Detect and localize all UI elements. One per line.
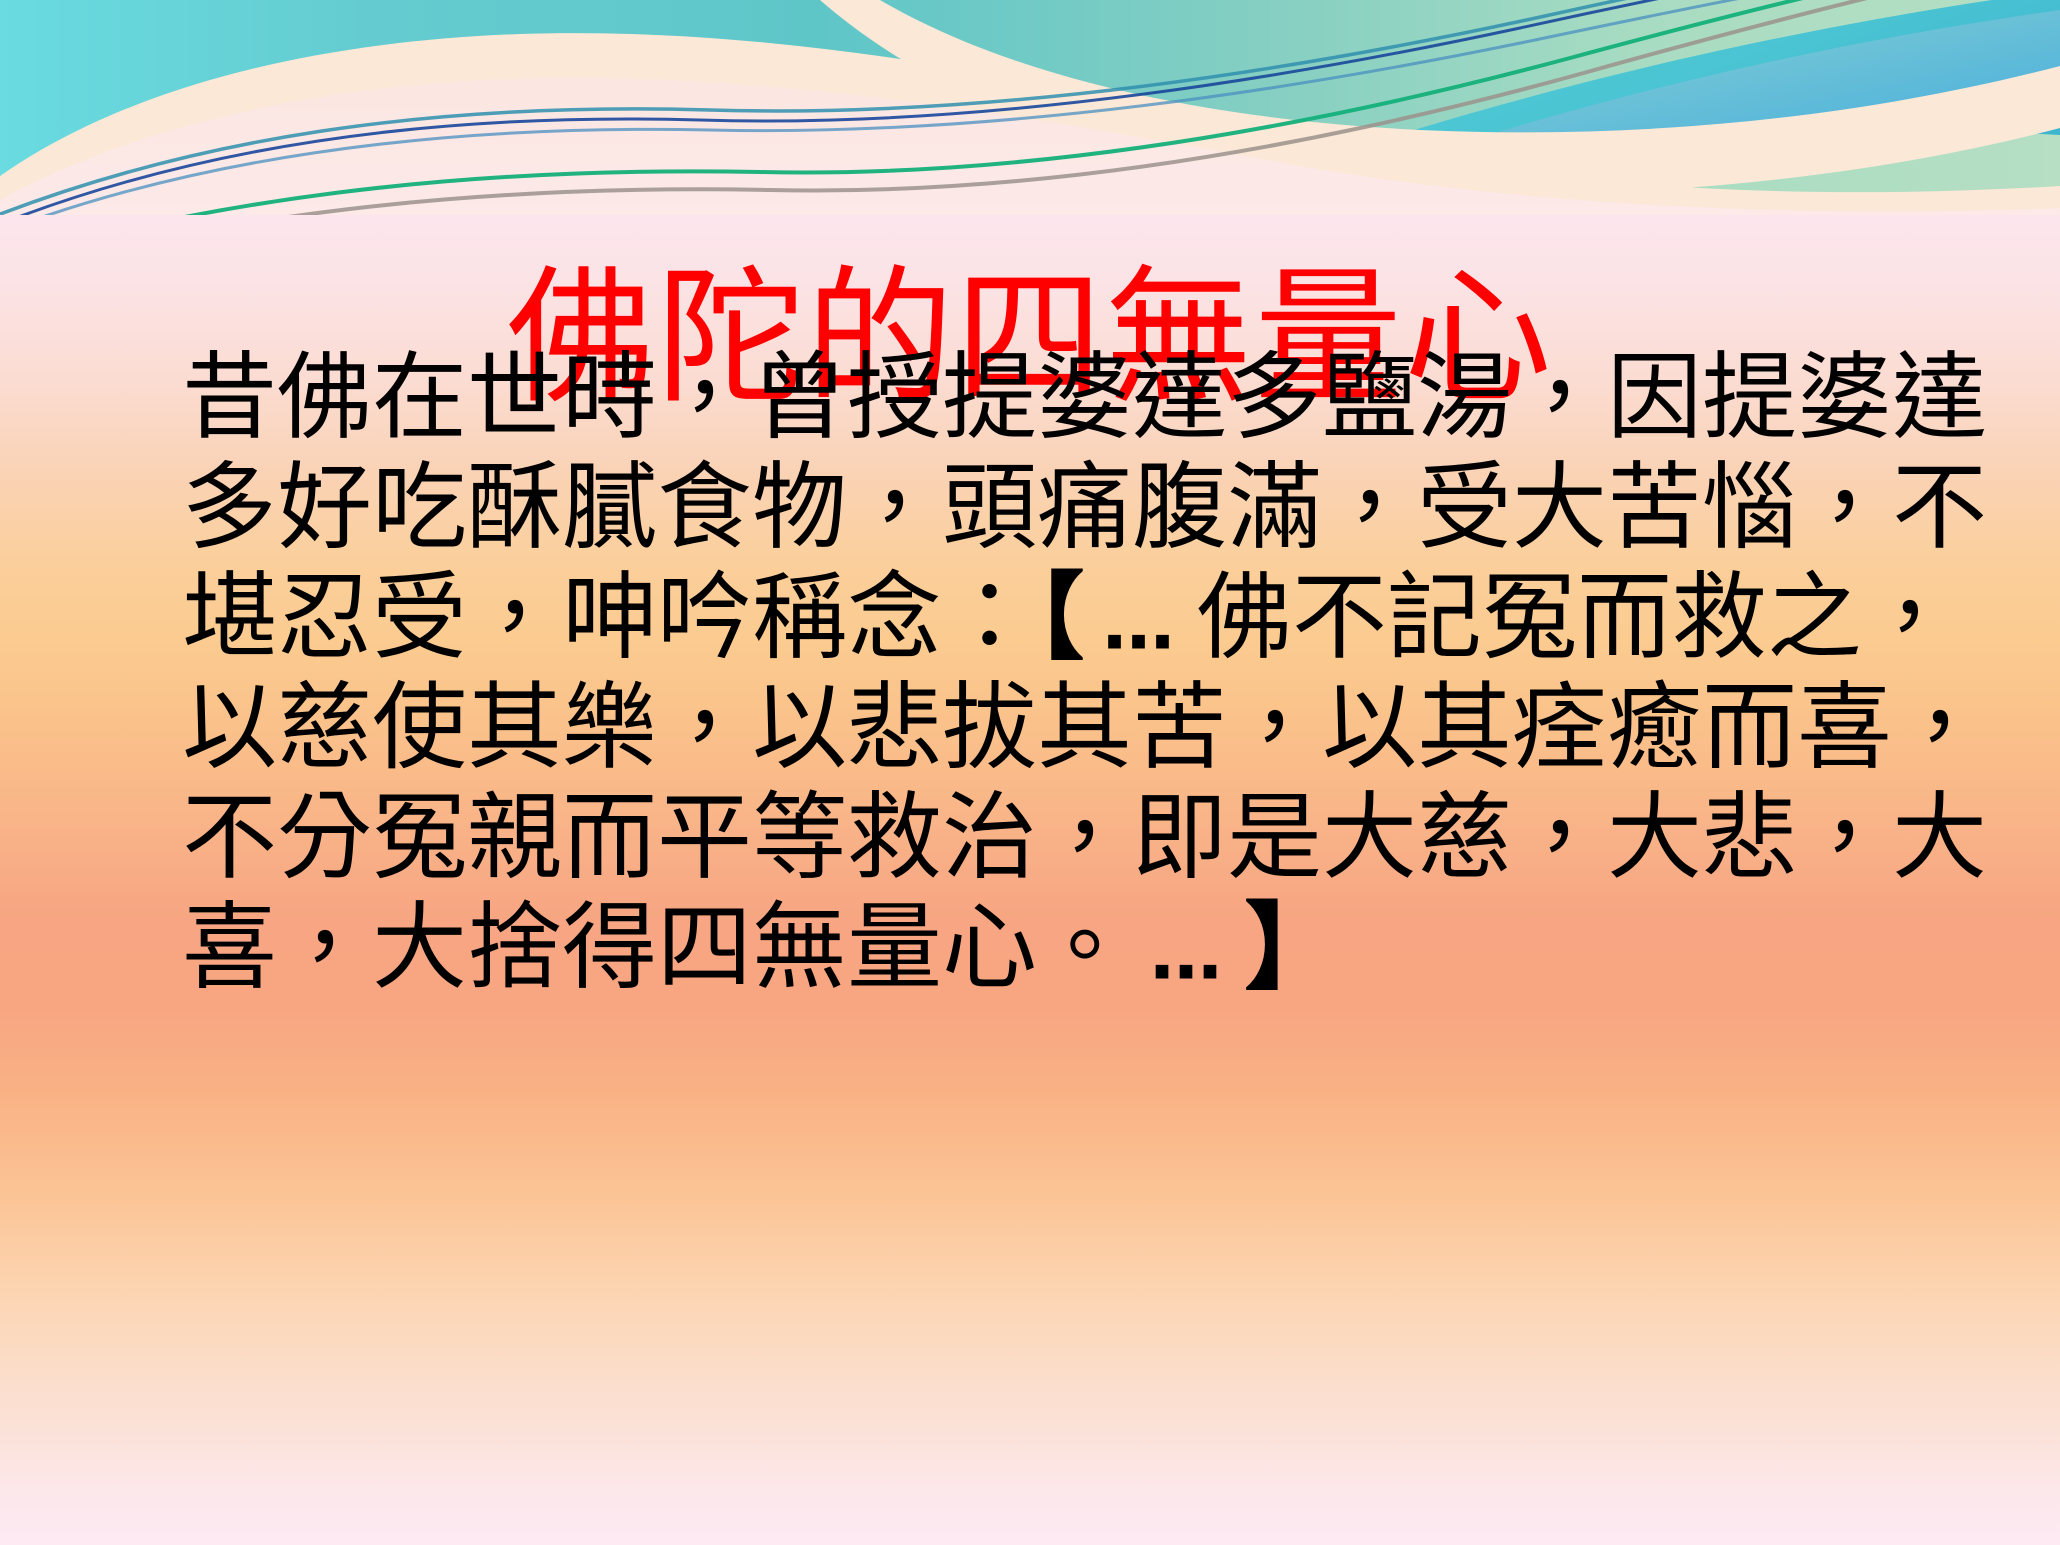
line-green [0,0,2060,215]
line-navy [0,0,2060,215]
ellipsis-open: … [1103,582,1179,666]
body-line-6: 喜，大捨得四無量心。…】 [182,893,1942,1003]
slide-canvas: 佛陀的四無量心 昔佛在世時，曾授提婆達多鹽湯，因提婆達 多好吃酥膩食物，頭痛腹滿… [0,0,2060,1545]
body-line-3: 堪忍受，呻吟稱念：【…佛不記冤而救之， [182,563,1942,673]
body-line-3-text-a: 堪忍受，呻吟稱念： [182,563,1037,673]
pink-wave-main [0,78,2060,215]
blue-blob-right [1250,10,2060,215]
header-decoration [0,0,2060,215]
open-bracket: 【 [1037,563,1085,673]
ellipsis-close: … [1150,912,1226,996]
header-wave-graphic [0,0,2060,215]
teal-band [0,0,2060,215]
line-steel-blue [0,0,2060,215]
body-line-5: 不分冤親而平等救治，即是大慈，大悲，大 [182,783,1942,893]
cream-sweep-upper [820,0,2060,195]
body-line-3-text-b: 佛不記冤而救之， [1197,563,1957,673]
line-gray [0,0,2060,215]
cream-wave-main [0,33,2060,215]
line-teal [0,0,2060,215]
body-line-2: 多好吃酥膩食物，頭痛腹滿，受大苦惱，不 [182,453,1942,563]
body-line-4: 以慈使其樂，以悲拔其苦，以其痊癒而喜， [182,673,1942,783]
close-bracket: 】 [1244,893,1339,1003]
slide-body-text: 昔佛在世時，曾授提婆達多鹽湯，因提婆達 多好吃酥膩食物，頭痛腹滿，受大苦惱，不 … [182,343,1942,1003]
body-line-1: 昔佛在世時，曾授提婆達多鹽湯，因提婆達 [182,343,1942,453]
cyan-blob-right [1160,0,2060,215]
body-line-6-text: 喜，大捨得四無量心。 [182,893,1132,1003]
